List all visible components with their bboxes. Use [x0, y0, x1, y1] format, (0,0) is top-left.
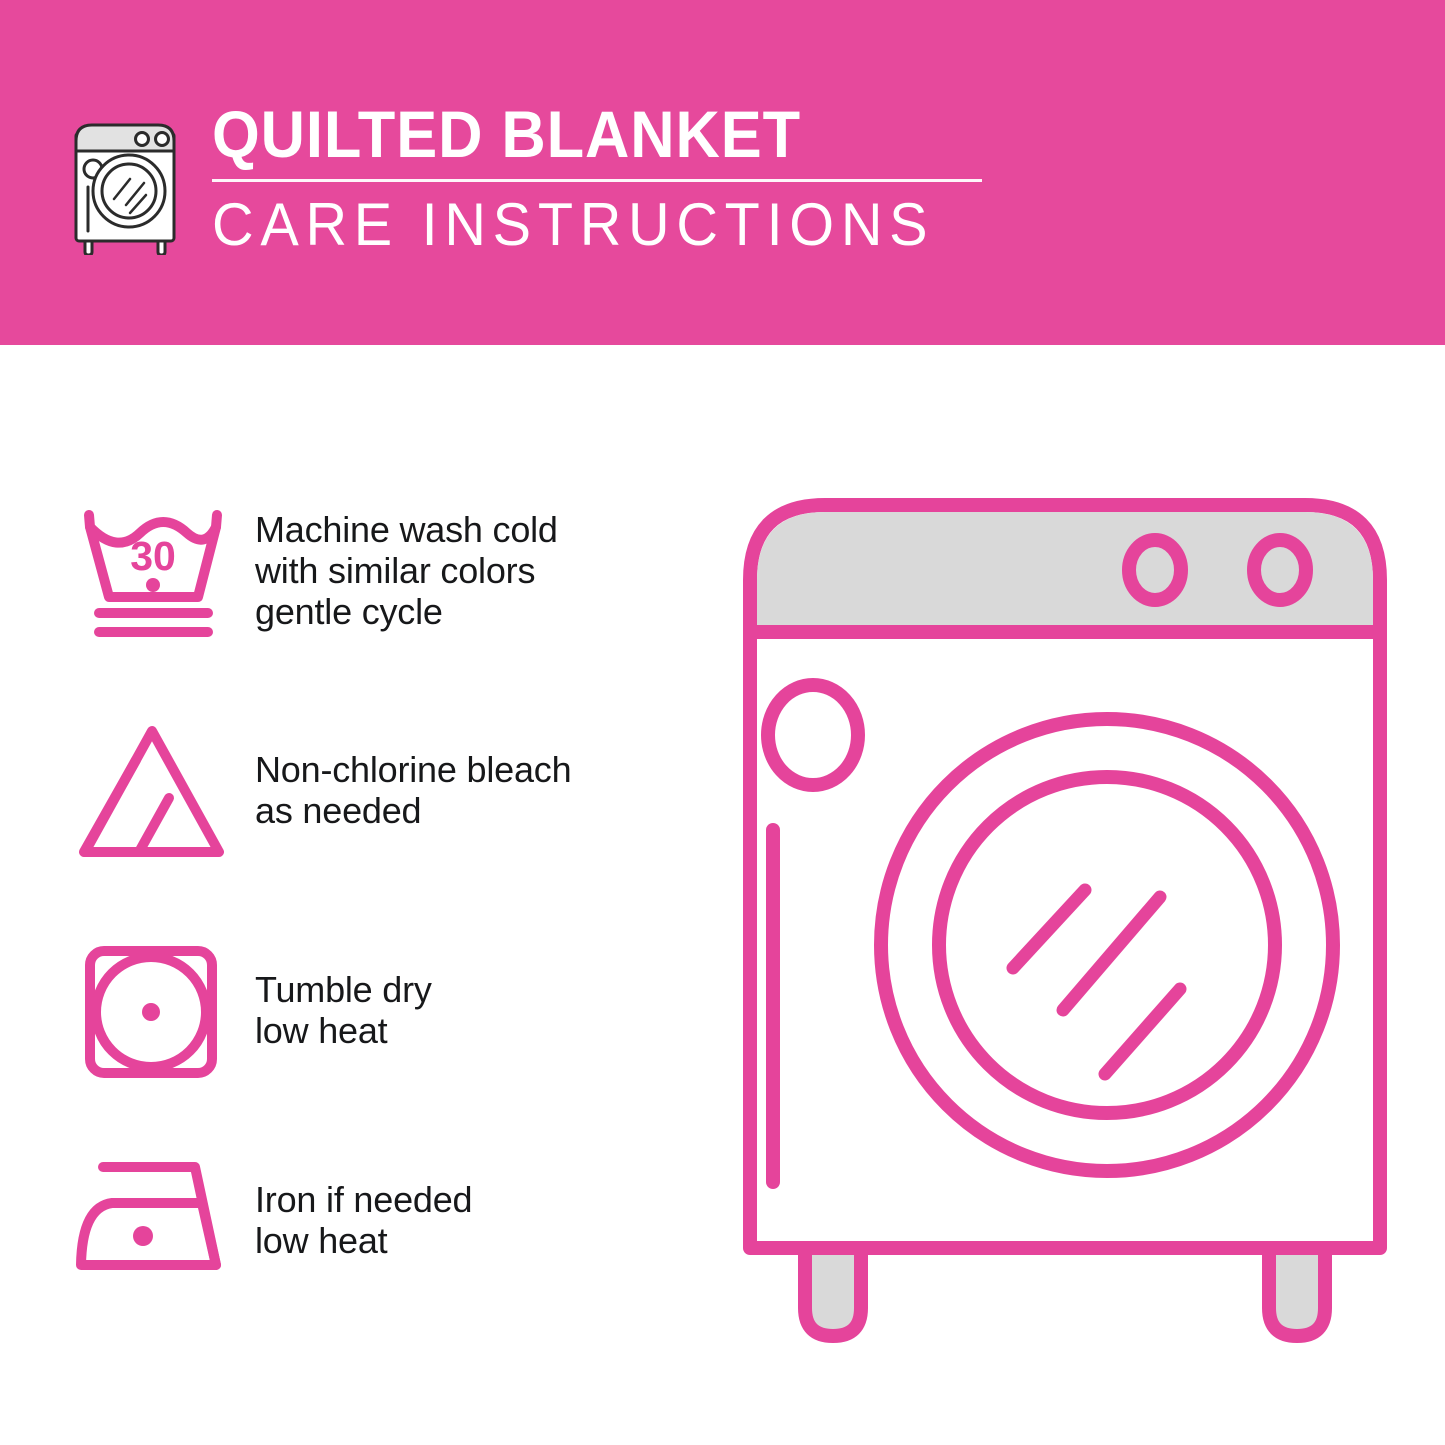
control-knob	[1254, 540, 1306, 600]
header-title-block: QUILTED BLANKET CARE INSTRUCTIONS	[212, 95, 982, 256]
tumble-dry-low-heat-icon	[65, 930, 240, 1090]
care-item-machine-wash: 30 Machine wash cold with similar colors…	[65, 490, 685, 650]
front-load-washing-machine-illustration	[715, 470, 1415, 1370]
care-item-line: as needed	[255, 790, 571, 831]
care-item-line: low heat	[255, 1220, 472, 1261]
care-item-iron: Iron if needed low heat	[65, 1140, 685, 1300]
washing-machine-icon	[60, 95, 190, 255]
care-instructions-page: QUILTED BLANKET CARE INSTRUCTIONS 30	[0, 0, 1445, 1445]
machine-leg	[805, 1248, 861, 1336]
non-chlorine-bleach-triangle-icon	[65, 710, 240, 870]
header-content: QUILTED BLANKET CARE INSTRUCTIONS	[60, 95, 982, 256]
iron-low-heat-icon	[65, 1140, 240, 1300]
care-item-line: Non-chlorine bleach	[255, 749, 571, 790]
page-header: QUILTED BLANKET CARE INSTRUCTIONS	[0, 0, 1445, 345]
machine-leg	[1269, 1248, 1325, 1336]
care-item-text: Machine wash cold with similar colors ge…	[255, 509, 558, 632]
page-subtitle: CARE INSTRUCTIONS	[212, 194, 951, 256]
care-item-line: gentle cycle	[255, 591, 558, 632]
care-item-line: Iron if needed	[255, 1179, 472, 1220]
care-item-line: Machine wash cold	[255, 509, 558, 550]
care-item-line: Tumble dry	[255, 969, 432, 1010]
page-title: QUILTED BLANKET	[212, 99, 928, 169]
care-item-text: Iron if needed low heat	[255, 1179, 472, 1261]
wash-temperature-label: 30	[130, 533, 176, 579]
care-item-line: low heat	[255, 1010, 432, 1051]
care-item-tumble-dry: Tumble dry low heat	[65, 930, 685, 1090]
title-divider	[212, 179, 982, 182]
care-instruction-list: 30 Machine wash cold with similar colors…	[0, 345, 700, 1445]
control-knob	[1129, 540, 1181, 600]
care-item-line: with similar colors	[255, 550, 558, 591]
wash-tub-30-gentle-icon: 30	[65, 490, 240, 650]
care-item-text: Tumble dry low heat	[255, 969, 432, 1051]
care-item-text: Non-chlorine bleach as needed	[255, 749, 571, 831]
care-item-bleach: Non-chlorine bleach as needed	[65, 710, 685, 870]
